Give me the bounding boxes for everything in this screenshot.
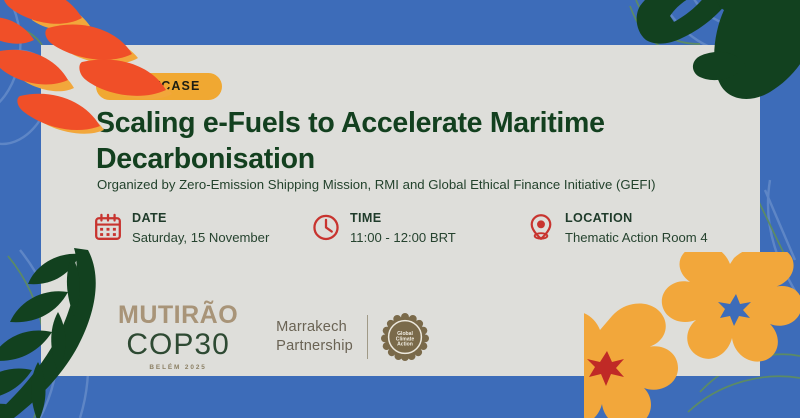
flower-decoration-bottom-right: [584, 252, 800, 418]
fern-leaf-decoration-bottom-left: [0, 236, 170, 418]
logo-divider: [367, 315, 368, 359]
meta-label-location: LOCATION: [565, 211, 708, 227]
event-meta-row: DATE Saturday, 15 November TIME 11:00 - …: [94, 210, 754, 246]
marrakech-partnership-text: Marrakech Partnership: [276, 318, 353, 355]
monstera-leaf-decoration-top-right: [612, 0, 800, 135]
meta-value-location: Thematic Action Room 4: [565, 229, 708, 247]
meta-label-date: DATE: [132, 211, 269, 227]
event-poster: SHOWCASE Scaling e-Fuels to Accelerate M…: [0, 0, 800, 418]
meta-item-location: LOCATION Thematic Action Room 4: [527, 210, 747, 246]
meta-item-time: TIME 11:00 - 12:00 BRT: [312, 210, 527, 246]
organizer-text: Organized by Zero-Emission Shipping Miss…: [97, 176, 757, 193]
meta-value-time: 11:00 - 12:00 BRT: [350, 229, 456, 247]
gca-line-3: Action: [397, 342, 413, 348]
global-climate-action-badge-icon: Global Climate Action: [381, 313, 429, 361]
meta-label-time: TIME: [350, 211, 456, 227]
clock-icon: [312, 211, 340, 243]
flower-lower: [584, 303, 678, 418]
marrakech-partnership-logo: Marrakech Partnership: [276, 313, 429, 361]
marrakech-line-1: Marrakech: [276, 318, 353, 337]
marrakech-line-2: Partnership: [276, 337, 353, 356]
location-pin-icon: [527, 211, 555, 243]
heliconia-flower-decoration-top-left: [0, 0, 197, 154]
